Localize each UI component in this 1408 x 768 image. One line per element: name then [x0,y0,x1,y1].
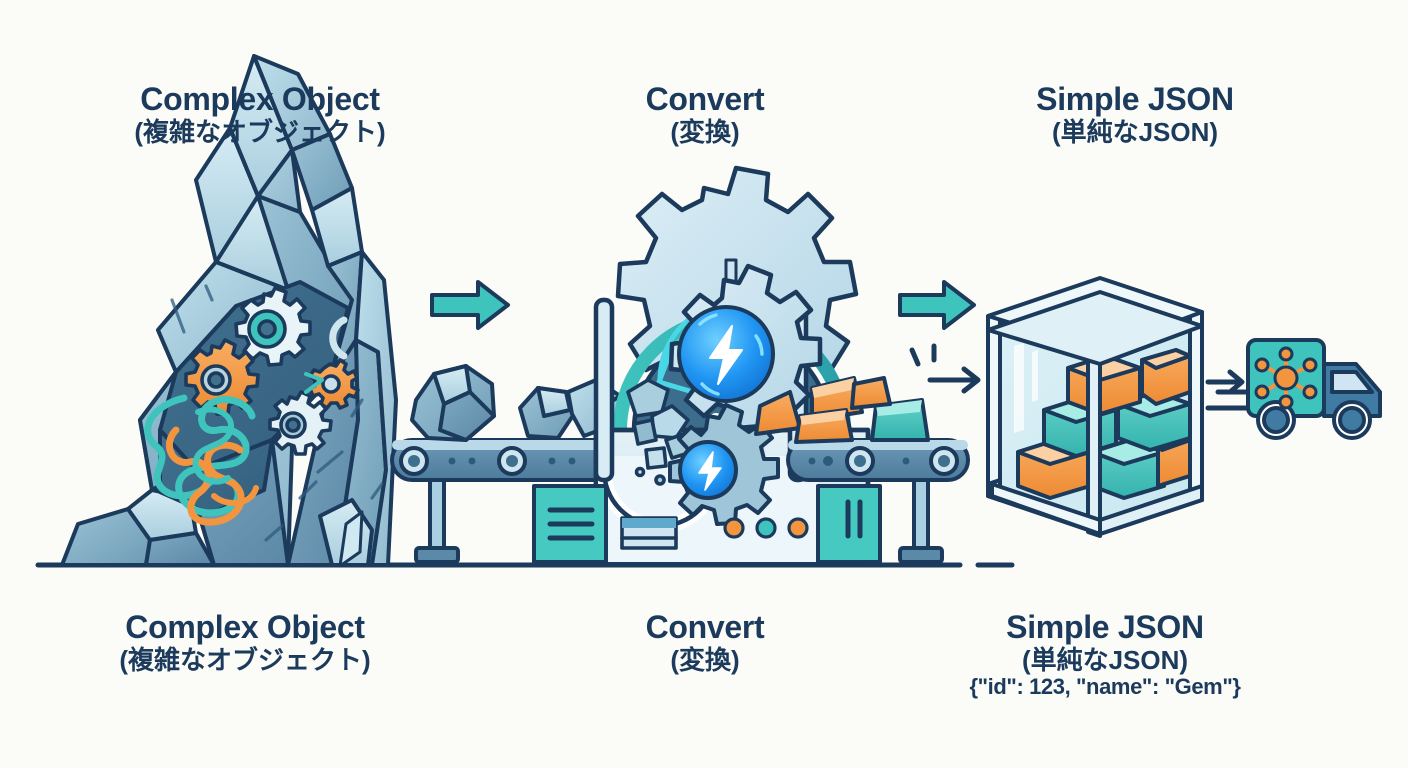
label-top-mid-jp: (変換) [585,118,825,147]
glass-cube-icon [988,278,1202,536]
label-top-simple-json: Simple JSON (単純なJSON) [1000,82,1270,147]
label-top-complex-object: Complex Object (複雑なオブジェクト) [60,82,460,147]
factory-machine-icon [534,168,880,562]
rock-chunks-icon [412,366,620,440]
label-top-left-jp: (複雑なオブジェクト) [60,118,460,147]
arrow-right-icon [900,282,974,328]
label-bottom-right-jp: (単純なJSON) [925,646,1285,675]
label-bottom-left-en: Complex Object [45,610,445,646]
status-indicator-lights [725,519,807,537]
label-bottom-right-json-snippet: {"id": 123, "name": "Gem"} [925,675,1285,700]
illustration-canvas: Complex Object (複雑なオブジェクト) Convert (変換) … [0,0,1408,768]
label-top-mid-en: Convert [585,82,825,118]
label-bottom-left-jp: (複雑なオブジェクト) [45,646,445,675]
label-bottom-right-en: Simple JSON [925,610,1285,646]
label-top-right-jp: (単純なJSON) [1000,118,1270,147]
label-top-convert: Convert (変換) [585,82,825,147]
label-bottom-complex-object: Complex Object (複雑なオブジェクト) [45,610,445,675]
label-bottom-mid-jp: (変換) [590,646,820,675]
label-bottom-convert: Convert (変換) [590,610,820,675]
label-bottom-mid-en: Convert [590,610,820,646]
label-top-right-en: Simple JSON [1000,82,1270,118]
thin-arrow-right-icon [912,346,978,391]
label-bottom-simple-json: Simple JSON (単純なJSON) {"id": 123, "name"… [925,610,1285,700]
thin-arrow-right-icon [1208,372,1242,392]
arrow-right-icon [432,282,508,328]
label-top-left-en: Complex Object [60,82,460,118]
